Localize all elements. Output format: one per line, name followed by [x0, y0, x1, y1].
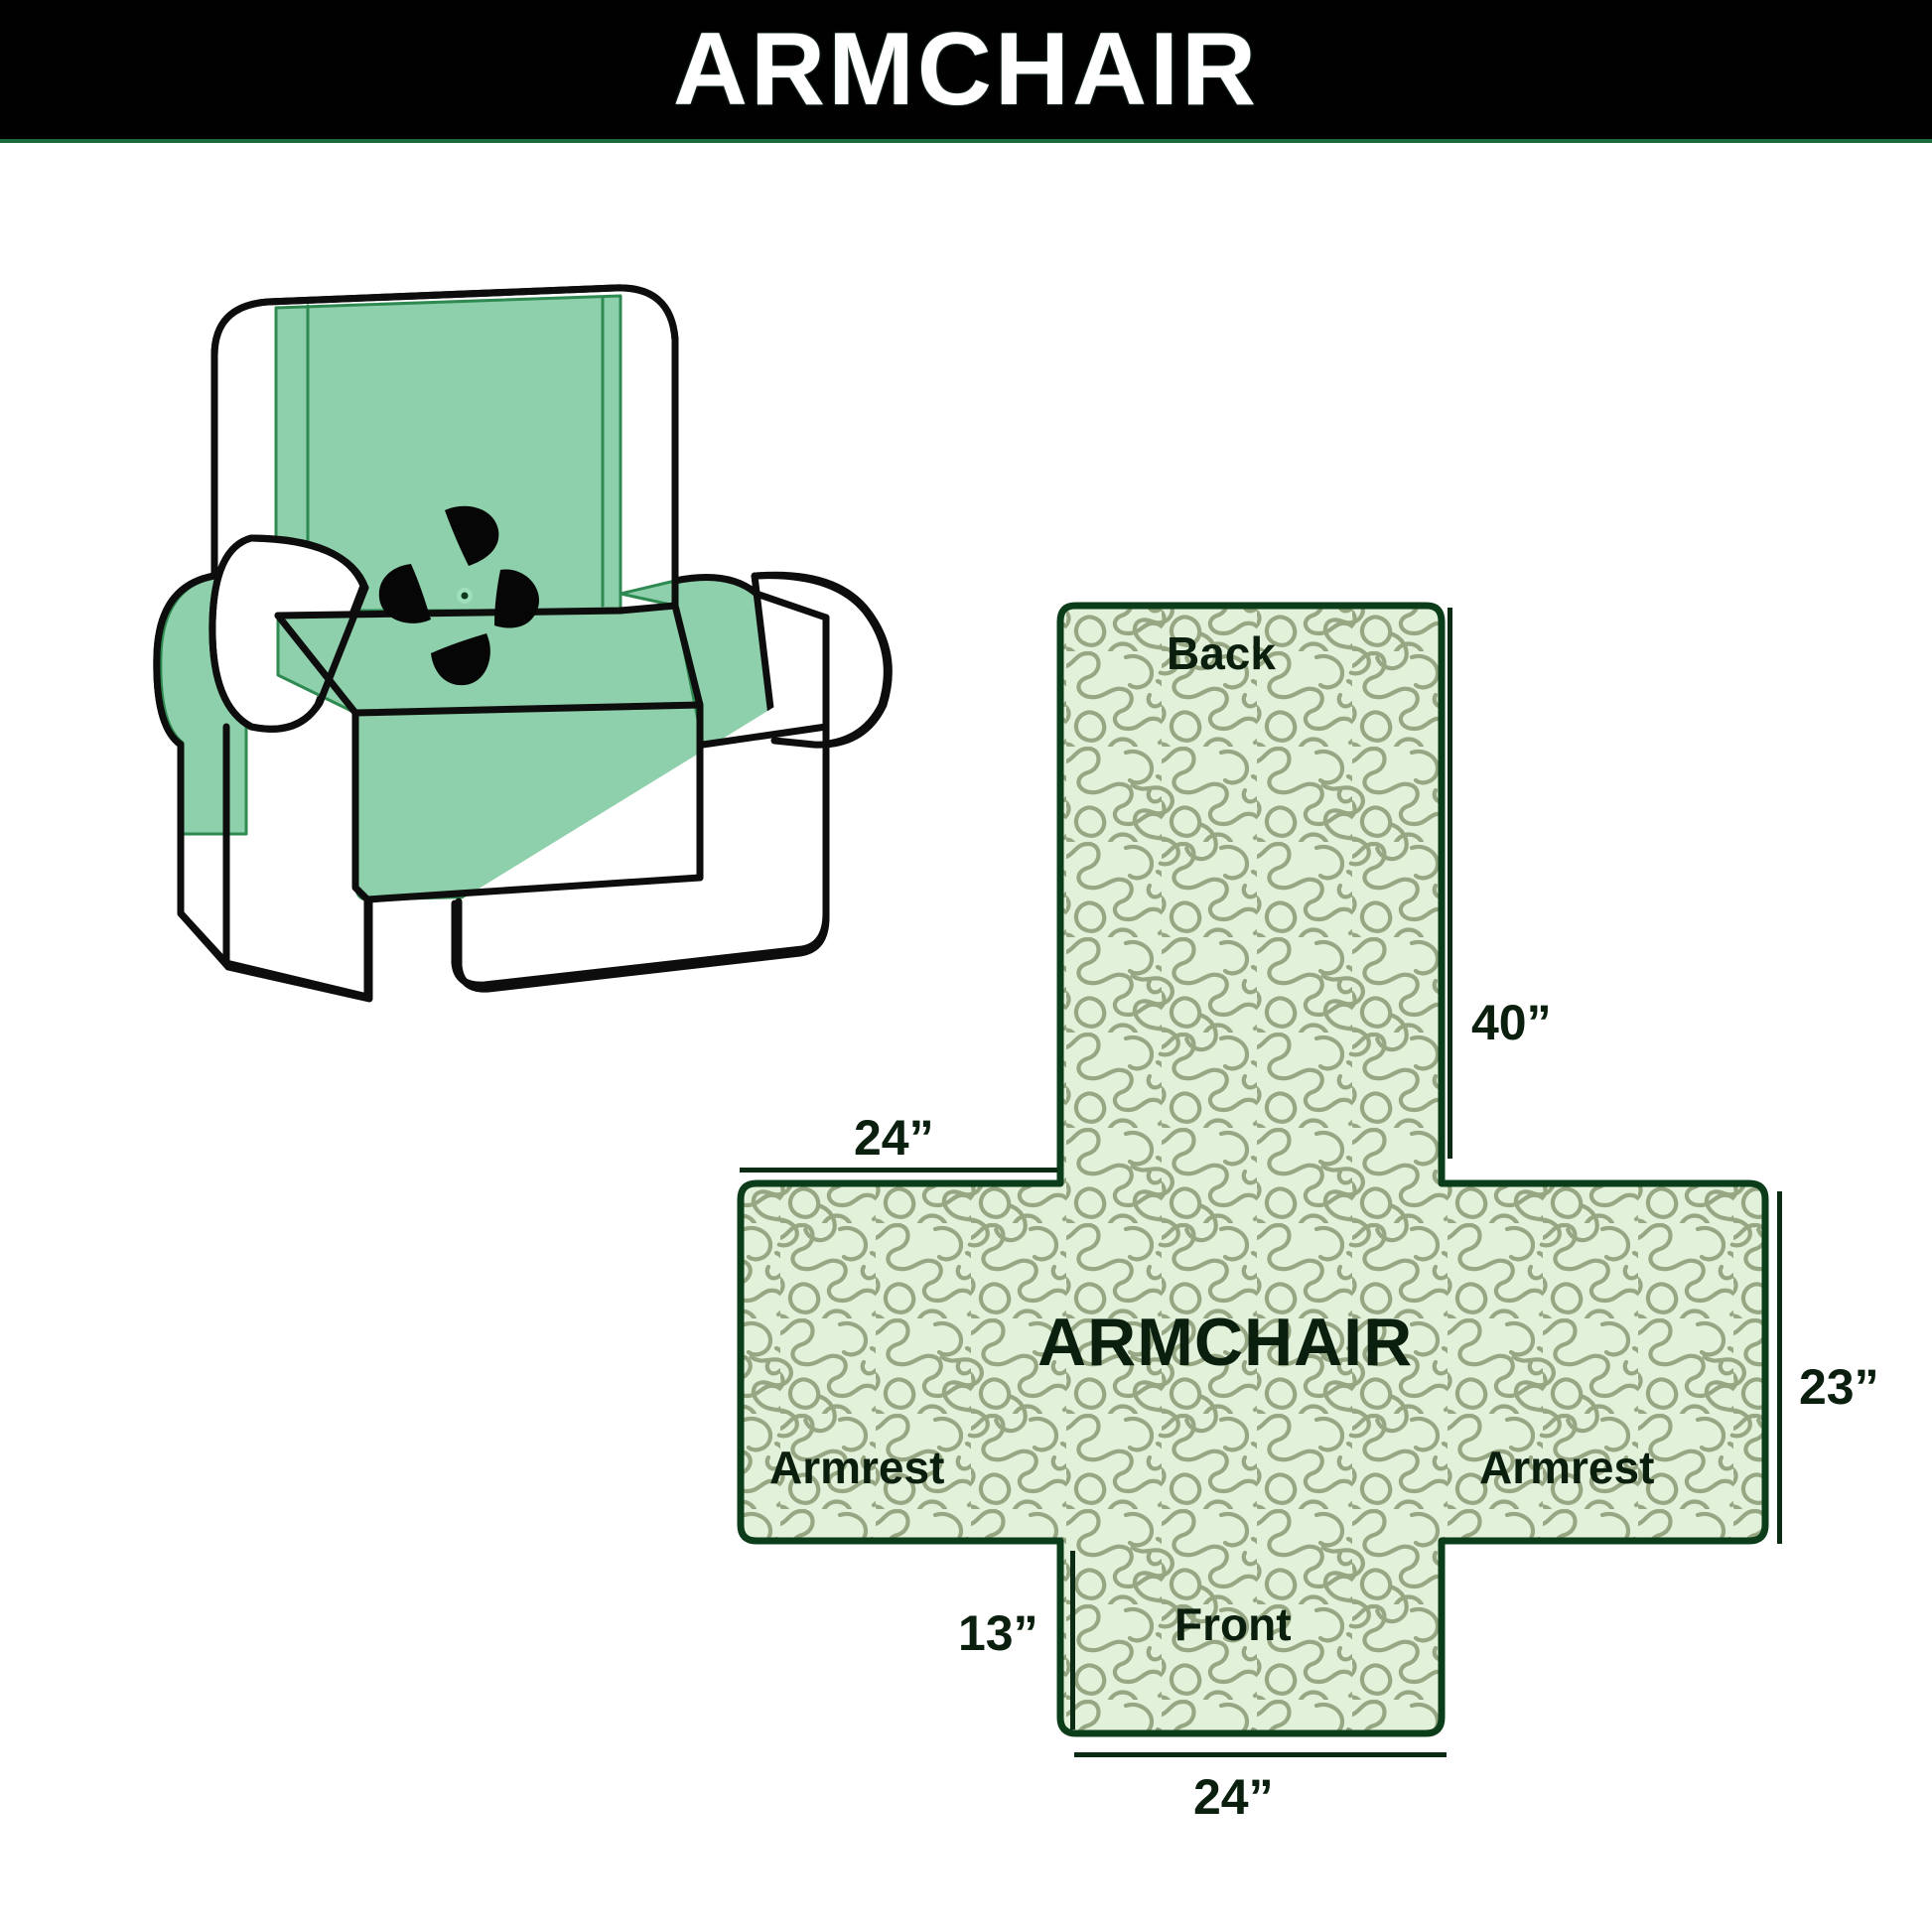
- panel-label-armrest-right: Armrest: [1479, 1445, 1654, 1490]
- header-banner: ARMCHAIR: [0, 0, 1932, 139]
- slipcover-pattern-diagram: [685, 556, 1876, 1866]
- dimension-label-front-height: 13”: [958, 1608, 1038, 1658]
- dimension-label-front-width: 24”: [1193, 1772, 1274, 1822]
- dimension-rule-back-height: [1448, 608, 1452, 1159]
- header-divider: [0, 139, 1932, 143]
- panel-label-armrest-left: Armrest: [769, 1445, 944, 1490]
- dimension-label-armrest-width: 24”: [854, 1113, 934, 1163]
- dimension-rule-front-width: [1074, 1752, 1447, 1757]
- dimension-rule-body-height: [1777, 1191, 1782, 1544]
- dimension-rule-front-height: [1070, 1551, 1075, 1729]
- panel-label-back: Back: [1167, 630, 1276, 676]
- diagram-center-label: ARMCHAIR: [1037, 1309, 1413, 1376]
- page-title: ARMCHAIR: [673, 18, 1259, 121]
- panel-label-front: Front: [1174, 1601, 1292, 1647]
- dimension-rule-armrest-width: [740, 1168, 1057, 1173]
- dimension-label-back-height: 40”: [1471, 998, 1552, 1047]
- dimension-label-body-height: 23”: [1799, 1362, 1879, 1412]
